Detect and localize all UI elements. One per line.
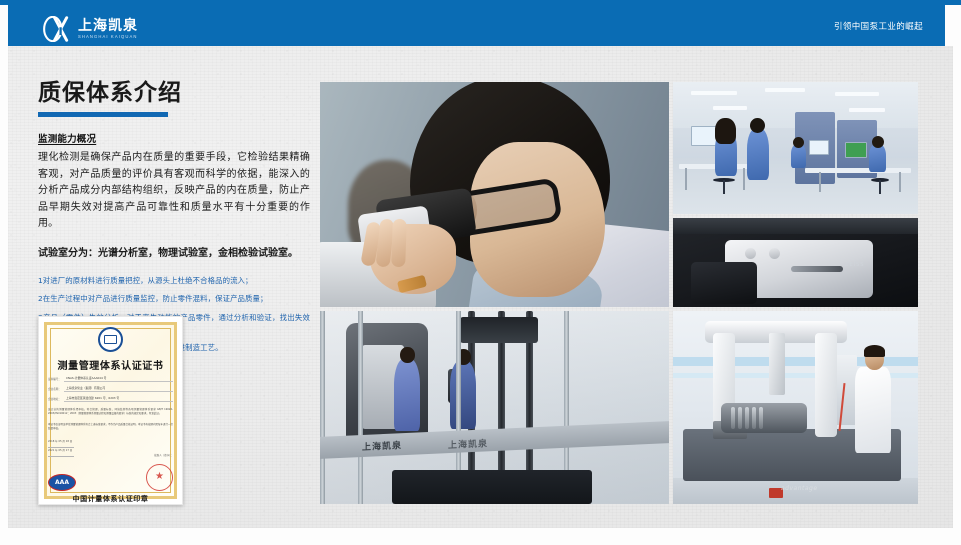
body-paragraph: 理化检测是确保产品内在质量的重要手段，它检验结果精确客观，对产品质量的评价具有客… [38,150,310,233]
certificate-title: 测量管理体系认证证书 [48,357,173,372]
brand-logo[interactable]: 上海凯泉 SHANGHAI KAIQUAN [43,15,163,43]
certificate-number-value: CNAS-计量体系认证AAA044 号 [64,376,173,382]
certificate-number-label: 证书编号： [48,377,61,381]
certificate-footer: 中国计量体系认证印章 [48,494,173,504]
slide-root: 上海凯泉 SHANGHAI KAIQUAN 引领中国泵工业的崛起 质保体系介绍 … [0,0,961,545]
red-official-stamp-icon [146,464,173,491]
certificate-approval-date: 2018 年 05 月 18 日 [48,439,74,443]
certificate-company-row: 企业名称： 上海凯泉泵业（集团）有限公司 [48,386,173,392]
brand-logo-text: 上海凯泉 SHANGHAI KAIQUAN [78,19,138,39]
list-item: 1对进厂的原材料进行质量把控，从源头上杜绝不合格品的流入； [38,275,310,286]
certification-seal-icon [98,327,123,352]
title-underline-rule [38,112,168,117]
certificate-company-label: 企业名称： [48,387,61,391]
list-item: 2在生产过程中对产品进行质量监控，防止零件混料，保证产品质量； [38,293,310,304]
page-header: 上海凯泉 SHANGHAI KAIQUAN 引领中国泵工业的崛起 [8,5,945,46]
certificate-valid-until: 2021 年 05 月 17 日 [48,448,74,452]
certificate-content: 测量管理体系认证证书 证书编号： CNAS-计量体系认证AAA044 号 企业名… [48,324,173,497]
certificate-signer: 批准人（签字）： [154,453,173,457]
photo-cmm-measuring: advantage [673,311,918,504]
signature-rule [48,456,74,457]
kaiquan-logo-icon [43,16,73,42]
certificate-body-text: 该企业的测量管理体系经审核，符合管理、质量标准、环境监测等各项测量管理体系要求 … [48,408,173,417]
aaa-rating-badge: AAA [48,474,76,491]
machine-model-label: advantage [781,485,818,492]
certificate-note-text: 本证书仅证明该单位测量管理体系符合上述标准要求，不作为产品质量合格证明。本证书有… [48,423,173,432]
certificate-address-row: 企业地址： 上海市嘉定区黄渡创建 6201 号、6203 号 [48,396,173,402]
photo-gallery-grid: ZEISS 上 [320,82,918,504]
brand-name-cn: 上海凯泉 [78,19,138,33]
banner-logo-text-2: 上海凯泉 [448,436,488,451]
certificate-image: 测量管理体系认证证书 证书编号： CNAS-计量体系认证AAA044 号 企业名… [38,316,183,505]
certificate-company-value: 上海凯泉泵业（集团）有限公司 [64,386,173,392]
photo-microscope-inspection [320,82,669,307]
certificate-signer-label: 批准人（签字）： [154,454,173,457]
page-title: 质保体系介绍 [38,80,310,106]
certificate-signature-block: 2018 年 05 月 18 日 2021 年 05 月 17 日 批准人（签字… [48,439,173,457]
certificate-address-value: 上海市嘉定区黄渡创建 6201 号、6203 号 [64,396,173,402]
certificate-stamp-row: AAA [48,464,173,491]
certificate-number-row: 证书编号： CNAS-计量体系认证AAA044 号 [48,376,173,382]
photo-tensile-testing: 上海凯泉 上海凯泉 [320,311,669,504]
certificate-dates: 2018 年 05 月 18 日 2021 年 05 月 17 日 [48,439,74,457]
section-subheading: 监测能力概况 [38,131,310,145]
brand-name-en: SHANGHAI KAIQUAN [78,35,138,39]
machine-brand-label: ZEISS [845,262,864,268]
photo-laboratory-room [673,82,918,214]
lab-rooms-line: 试验室分为：光谱分析室，物理试验室，金相检验试验室。 [38,246,310,262]
header-tagline: 引领中国泵工业的崛起 [834,5,923,46]
photo-cmm-closeup-dark: ZEISS [673,218,918,307]
certificate-address-label: 企业地址： [48,397,61,401]
banner-logo-text: 上海凯泉 [362,438,402,453]
